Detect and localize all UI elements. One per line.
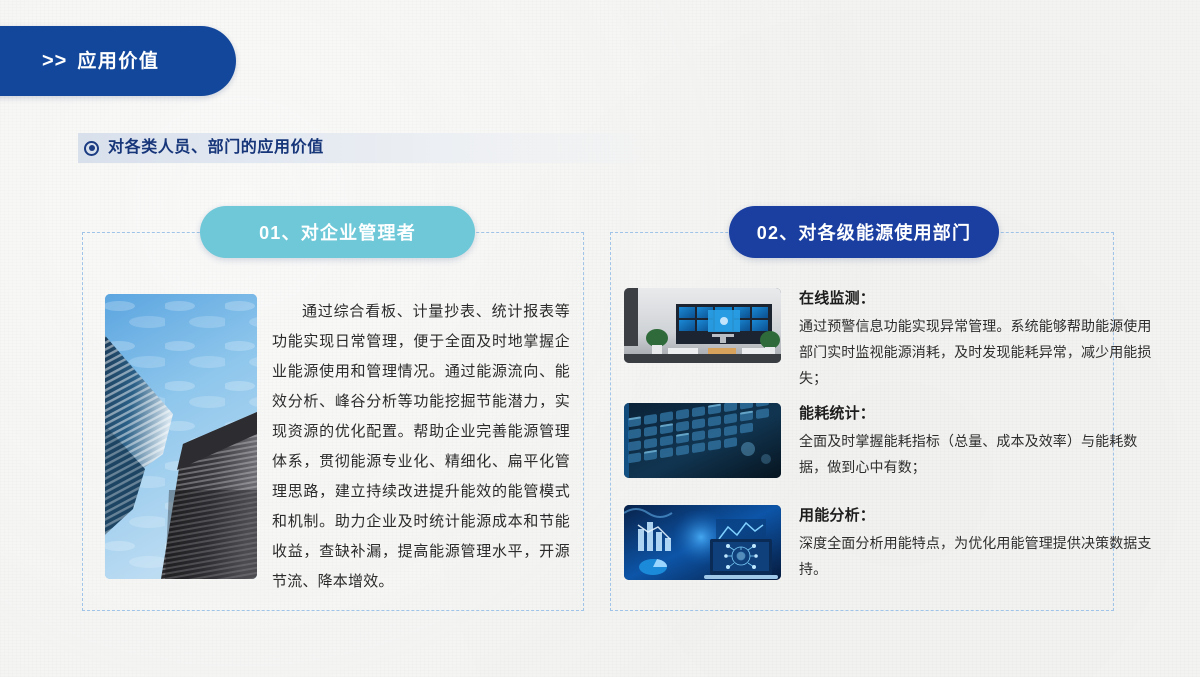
left-card-paragraph: 通过综合看板、计量抄表、统计报表等功能实现日常管理，便于全面及时地掌握企业能源使… xyxy=(272,297,570,597)
list-item-body: 能耗统计： 全面及时掌握能耗指标（总量、成本及效率）与能耗数据，做到心中有数； xyxy=(799,403,1154,480)
list-item-title: 能耗统计： xyxy=(799,403,1154,425)
data-analytics-thumbnail xyxy=(624,505,781,580)
list-item-title: 在线监测： xyxy=(799,288,1154,310)
section-tab-content: >> 应用价值 xyxy=(42,51,159,71)
list-item-body: 用能分析： 深度全面分析用能特点，为优化用能管理提供决策数据支持。 xyxy=(799,505,1154,582)
list-item: 能耗统计： 全面及时掌握能耗指标（总量、成本及效率）与能耗数据，做到心中有数； xyxy=(624,403,1154,480)
control-room-thumbnail xyxy=(624,288,781,363)
page-title: 应用价值 xyxy=(77,52,159,71)
pill-label-02: 02、对各级能源使用部门 xyxy=(729,206,999,258)
subheading: 对各类人员、部门的应用价值 xyxy=(84,135,324,161)
section-tab: >> 应用价值 xyxy=(0,26,236,96)
target-bullet-icon xyxy=(84,141,99,156)
list-item-desc: 全面及时掌握能耗指标（总量、成本及效率）与能耗数据，做到心中有数； xyxy=(799,428,1154,480)
list-item: 用能分析： 深度全面分析用能特点，为优化用能管理提供决策数据支持。 xyxy=(624,505,1154,582)
list-item-body: 在线监测： 通过预警信息功能实现异常管理。系统能够帮助能源使用部门实时监视能源消… xyxy=(799,288,1154,391)
skyscrapers-photo xyxy=(105,294,257,579)
list-item-desc: 通过预警信息功能实现异常管理。系统能够帮助能源使用部门实时监视能源消耗，及时发现… xyxy=(799,313,1154,391)
subheading-label: 对各类人员、部门的应用价值 xyxy=(108,140,324,156)
keyboard-thumbnail xyxy=(624,403,781,478)
pill-label-01: 01、对企业管理者 xyxy=(200,206,475,258)
list-item-desc: 深度全面分析用能特点，为优化用能管理提供决策数据支持。 xyxy=(799,530,1154,582)
list-item: 在线监测： 通过预警信息功能实现异常管理。系统能够帮助能源使用部门实时监视能源消… xyxy=(624,288,1154,391)
double-chevron-right-icon: >> xyxy=(42,51,67,71)
list-item-title: 用能分析： xyxy=(799,505,1154,527)
